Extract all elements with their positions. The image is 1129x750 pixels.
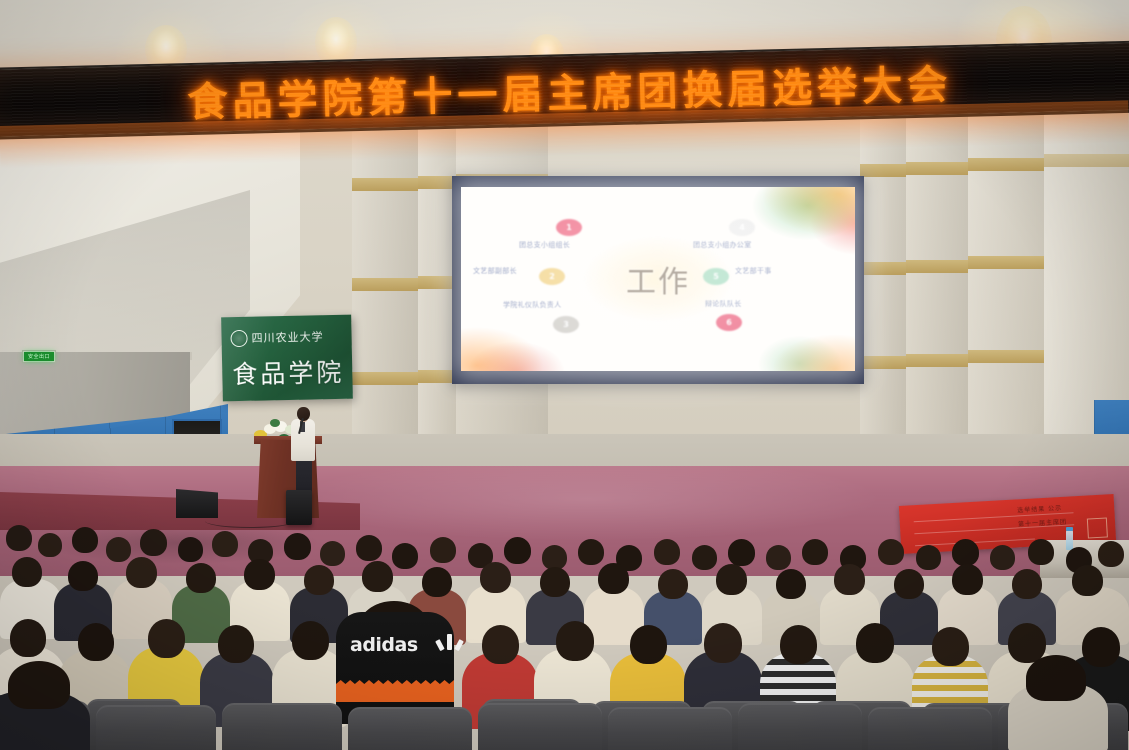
slide-content: 工作 1 团总支小组组长 2 文艺部副部长 3 学院礼仪队负责人 4	[461, 187, 855, 371]
flag-college-name: 食品学院	[232, 353, 345, 391]
slide-node-label: 团总支小组组长	[519, 240, 570, 250]
auditorium-photo-scene: 安全出口 四川农业大学 食品学院 工作 1 团总支小组组长 2	[0, 0, 1129, 750]
slide-node-label: 文艺部副部长	[473, 266, 517, 276]
college-banner-flag: 四川农业大学 食品学院	[221, 315, 353, 402]
seated-audience: adidas	[0, 505, 1129, 750]
audience-head	[8, 661, 70, 709]
flag-university-name: 四川农业大学	[251, 328, 323, 346]
emergency-exit-sign: 安全出口	[22, 350, 56, 363]
slide-node-label: 辩论队队长	[705, 299, 742, 309]
slide-node-5: 文艺部干事	[735, 266, 772, 276]
slide-badge-2: 2	[539, 268, 565, 285]
auditorium-seat[interactable]	[478, 703, 602, 750]
exit-sign-label: 安全出口	[24, 352, 54, 361]
university-seal-logo	[230, 330, 247, 347]
slide-badge-1: 1	[556, 219, 582, 236]
slide-node-6: 辩论队队长	[705, 299, 742, 309]
adidas-orange-stripe	[336, 680, 454, 702]
projection-screen: 工作 1 团总支小组组长 2 文艺部副部长 3 学院礼仪队负责人 4	[452, 176, 864, 384]
auditorium-seat[interactable]	[96, 705, 216, 750]
slide-badge-5: 5	[703, 268, 729, 285]
audience-head	[1026, 655, 1086, 701]
auditorium-seat[interactable]	[222, 703, 342, 750]
slide-node-2: 文艺部副部长	[473, 266, 517, 276]
slide-node-label: 学院礼仪队负责人	[503, 300, 561, 310]
auditorium-seat[interactable]	[868, 707, 992, 750]
auditorium-seat[interactable]	[608, 707, 732, 750]
slide-badge-6: 6	[716, 314, 742, 331]
adidas-wordmark: adidas	[350, 634, 418, 656]
slide-badge-3: 3	[553, 316, 579, 333]
adidas-trefoil-icon	[440, 632, 460, 650]
slide-node-4: 团总支小组办公室	[693, 240, 751, 250]
auditorium-seat[interactable]	[738, 703, 862, 750]
slide-node-label: 团总支小组办公室	[693, 240, 751, 250]
projection-screen-canvas: 工作 1 团总支小组组长 2 文艺部副部长 3 学院礼仪队负责人 4	[461, 187, 855, 371]
slide-center-text: 工作	[626, 257, 690, 301]
slide-node-3: 学院礼仪队负责人	[503, 300, 561, 310]
slide-node-1: 团总支小组组长	[519, 240, 570, 250]
slide-badge-4: 4	[729, 219, 755, 236]
slide-node-label: 文艺部干事	[735, 266, 772, 276]
auditorium-seat[interactable]	[348, 707, 472, 750]
